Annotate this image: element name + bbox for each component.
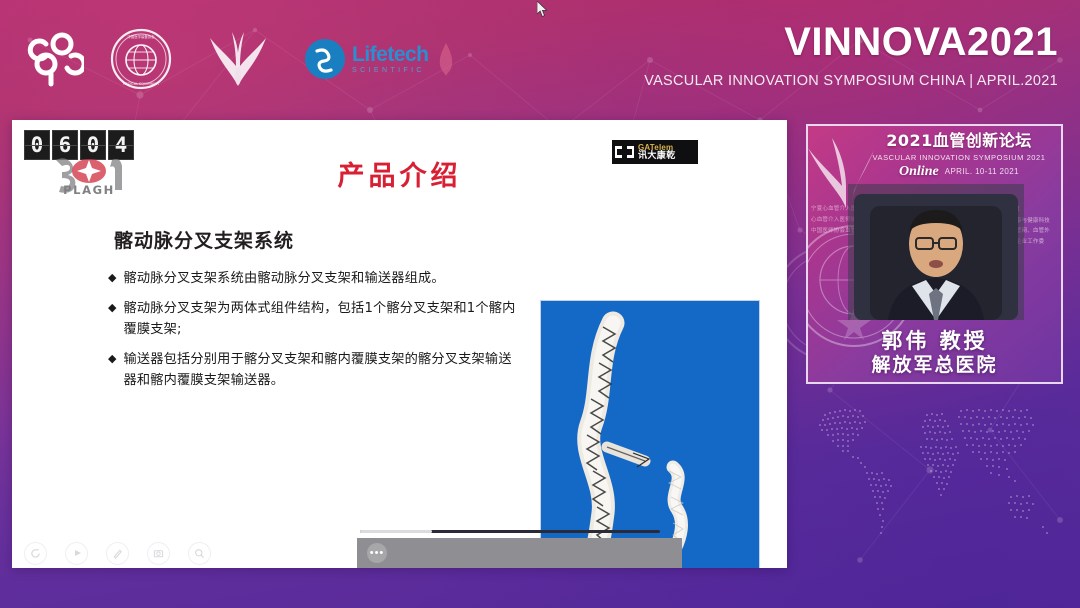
play-icon[interactable]	[65, 542, 88, 565]
gatelem-wordmark-cn: 讯大康乾	[638, 152, 676, 161]
gatelem-watermark: GATelem 讯大康乾	[612, 140, 698, 164]
speaker-name: 郭伟 教授	[808, 329, 1061, 354]
speaker-video-panel[interactable]: 2021血管创新论坛 VASCULAR INNOVATION SYMPOSIUM…	[806, 124, 1063, 384]
banner-subtitle: VASCULAR INNOVATION SYMPOSIUM 2021	[864, 153, 1054, 162]
banner-online-label: Online	[899, 164, 939, 180]
search-icon[interactable]	[188, 542, 211, 565]
banner-online-row: Online APRIL. 10-11 2021	[864, 164, 1054, 180]
more-options-icon[interactable]: •••	[367, 543, 387, 563]
banner-date: APRIL. 10-11 2021	[945, 167, 1019, 176]
list-item: ◆ 髂动脉分叉支架系统由髂动脉分叉支架和输送器组成。	[108, 268, 518, 289]
lifetech-subwordmark: SCIENTIFIC	[352, 67, 429, 74]
video-progress-bar[interactable]	[360, 528, 660, 534]
svg-text:MEDICAL EQUIPMENT: MEDICAL EQUIPMENT	[123, 82, 160, 86]
video-banner: 2021血管创新论坛 VASCULAR INNOVATION SYMPOSIUM…	[864, 132, 1054, 180]
event-subtitle: VASCULAR INNOVATION SYMPOSIUM CHINA | AP…	[644, 73, 1058, 89]
reload-icon[interactable]	[24, 542, 47, 565]
bullet-text: 髂动脉分叉支架系统由髂动脉分叉支架和输送器组成。	[123, 268, 444, 289]
butterfly-wings-logo	[198, 26, 278, 92]
list-item: ◆ 输送器包括分别用于髂分叉支架和髂内覆膜支架的髂分叉支架输送器和髂内覆膜支架输…	[108, 349, 518, 391]
diamond-bullet-icon: ◆	[108, 349, 116, 369]
svg-text:中国医学装备协会: 中国医学装备协会	[127, 34, 155, 39]
diamond-bullet-icon: ◆	[108, 298, 116, 318]
banner-title: 2021血管创新论坛	[864, 132, 1054, 150]
diamond-bullet-icon: ◆	[108, 268, 116, 288]
screen-root: 中国医学装备协会 MEDICAL EQUIPMENT	[0, 0, 1080, 608]
lifetech-scientific-logo: Lifetech SCIENTIFIC	[304, 26, 459, 92]
event-title: VINNOVA2021	[644, 22, 1058, 62]
lifetech-wordmark: Lifetech	[352, 44, 429, 65]
bullet-text: 输送器包括分别用于髂分叉支架和髂内覆膜支架的髂分叉支架输送器和髂内覆膜支架输送器…	[123, 349, 518, 391]
player-toolbar[interactable]	[12, 538, 369, 568]
bullet-list: ◆ 髂动脉分叉支架系统由髂动脉分叉支架和输送器组成。 ◆ 髂动脉分叉支架为两体式…	[108, 268, 518, 400]
circular-globe-emblem-logo: 中国医学装备协会 MEDICAL EQUIPMENT	[110, 26, 172, 92]
event-brand: VINNOVA2021 VASCULAR INNOVATION SYMPOSIU…	[644, 22, 1058, 89]
player-toolbar-secondary[interactable]: •••	[357, 538, 682, 568]
mouse-cursor	[537, 1, 549, 19]
slide-subtitle: 髂动脉分叉支架系统	[114, 226, 294, 253]
speaker-organization: 解放军总医院	[808, 354, 1061, 378]
world-map-watermark	[795, 385, 1080, 565]
cccf-loops-logo	[22, 26, 84, 92]
speaker-video-frame	[848, 184, 1024, 320]
presentation-slide[interactable]: 0 6 0 4 PLAGH 产品介绍 髂动脉分叉支架系统 ◆ 髂动脉分叉支架系统…	[12, 120, 787, 568]
list-item: ◆ 髂动脉分叉支架为两体式组件结构，包括1个髂分叉支架和1个髂内覆膜支架;	[108, 298, 518, 340]
speaker-label: 郭伟 教授 解放军总医院	[808, 329, 1061, 378]
sponsor-logos: 中国医学装备协会 MEDICAL EQUIPMENT	[22, 24, 459, 94]
pen-icon[interactable]	[106, 542, 129, 565]
camera-icon[interactable]	[147, 542, 170, 565]
bullet-text: 髂动脉分叉支架为两体式组件结构，包括1个髂分叉支架和1个髂内覆膜支架;	[123, 298, 518, 340]
